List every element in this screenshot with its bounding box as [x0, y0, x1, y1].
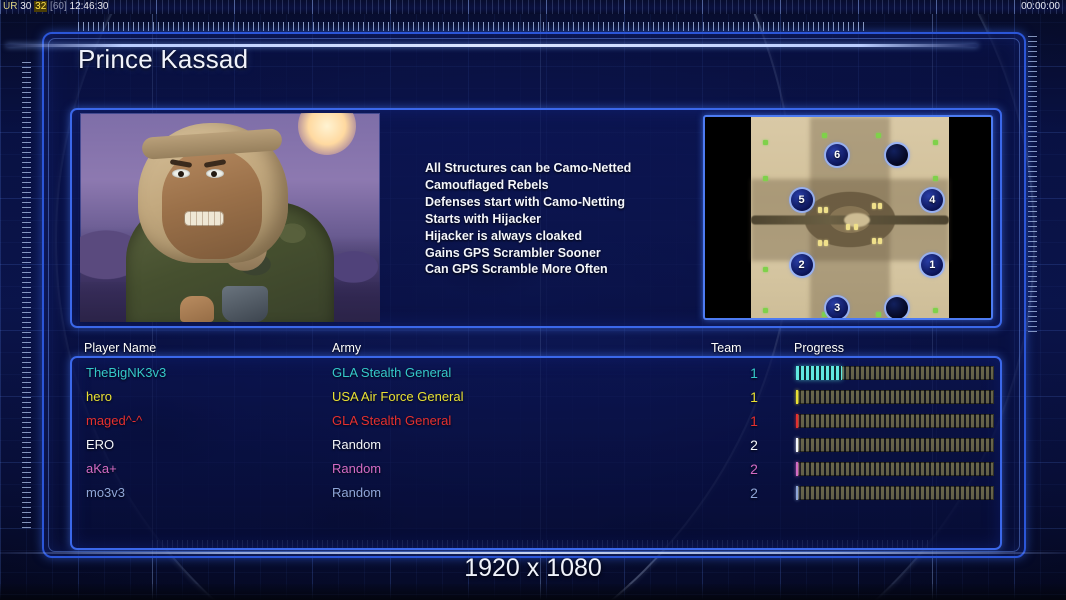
start-position-2: 2 — [791, 254, 813, 276]
supply-dock — [822, 133, 827, 138]
fps-highlight: 32 — [34, 1, 47, 12]
start-position-1: 1 — [921, 254, 943, 276]
progress-bar — [796, 366, 994, 380]
progress-bar-fill — [796, 366, 842, 380]
player-team-cell: 1 — [744, 411, 764, 431]
status-bar-ticks — [0, 0, 1066, 14]
progress-bar-fill — [796, 390, 798, 404]
pupil-left — [178, 171, 184, 177]
system-clock: 12:46:30 — [70, 1, 109, 12]
fps-bracket: [60] — [50, 1, 67, 12]
ability-item: Can GPS Scramble More Often — [425, 261, 705, 278]
player-team-cell: 2 — [744, 459, 764, 479]
table-header-row: Player Name Army Team Progress — [84, 341, 1004, 357]
page-title: Prince Kassad — [78, 44, 248, 75]
column-header-army: Army — [332, 341, 361, 355]
minimap-terrain: 6 5 4 2 1 3 — [751, 117, 949, 320]
progress-bar — [796, 486, 994, 500]
player-team-cell: 1 — [744, 387, 764, 407]
player-army-cell: GLA Stealth General — [332, 411, 451, 431]
resolution-strip: 1920 x 1080 — [0, 548, 1066, 584]
ability-item: Camouflaged Rebels — [425, 177, 705, 194]
table-row[interactable]: mo3v3Random2 — [84, 483, 1004, 507]
player-name-cell: TheBigNK3v3 — [86, 363, 166, 383]
start-position-6: 6 — [826, 144, 848, 166]
player-name-cell: mo3v3 — [86, 483, 125, 503]
fps-counter: UR 30 32 [60] 12:46:30 — [3, 0, 108, 14]
pupil-right — [211, 171, 217, 177]
oil-derrick — [872, 203, 876, 209]
ability-item: Hijacker is always cloaked — [425, 228, 705, 245]
progress-bar — [796, 438, 994, 452]
fps-current: 30 — [20, 1, 31, 12]
start-position-4: 4 — [921, 189, 943, 211]
ability-item: Gains GPS Scrambler Sooner — [425, 245, 705, 262]
player-team-cell: 1 — [744, 363, 764, 383]
progress-bar — [796, 414, 994, 428]
player-army-cell: Random — [332, 435, 381, 455]
progress-bar-fill — [796, 462, 798, 476]
supply-dock — [763, 140, 768, 145]
general-portrait — [80, 113, 380, 322]
start-position-blank — [886, 144, 908, 166]
player-name-cell: hero — [86, 387, 112, 407]
supply-dock — [933, 176, 938, 181]
oil-derrick — [854, 224, 858, 230]
player-team-cell: 2 — [744, 435, 764, 455]
oil-derrick — [846, 224, 850, 230]
column-header-team: Team — [711, 341, 742, 355]
ruler-top — [78, 22, 868, 31]
minimap: 6 5 4 2 1 3 — [703, 115, 993, 320]
teapot — [222, 286, 268, 322]
fps-label: UR — [3, 1, 17, 12]
progress-bar-fill — [796, 438, 798, 452]
supply-dock — [763, 176, 768, 181]
hand — [180, 296, 214, 322]
player-army-cell: Random — [332, 483, 381, 503]
ruler-right — [1028, 36, 1037, 336]
supply-dock — [876, 312, 881, 317]
progress-bar — [796, 462, 994, 476]
column-header-player-name: Player Name — [84, 341, 156, 355]
oil-derrick — [818, 207, 822, 213]
player-army-cell: Random — [332, 459, 381, 479]
player-name-cell: maged^-^ — [86, 411, 142, 431]
bottom-fade — [0, 584, 1066, 600]
player-list: TheBigNK3v3GLA Stealth General1heroUSA A… — [84, 363, 1004, 507]
supply-dock — [763, 267, 768, 272]
table-row[interactable]: aKa+Random2 — [84, 459, 1004, 483]
ruler-left — [22, 62, 31, 532]
status-bar: UR 30 32 [60] 12:46:30 00:00:00 — [0, 0, 1066, 14]
table-row[interactable]: maged^-^GLA Stealth General1 — [84, 411, 1004, 435]
player-name-cell: ERO — [86, 435, 114, 455]
loading-screen: UR 30 32 [60] 12:46:30 00:00:00 Prince K… — [0, 0, 1066, 600]
player-team-cell: 2 — [744, 483, 764, 503]
supply-dock — [933, 308, 938, 313]
table-row[interactable]: TheBigNK3v3GLA Stealth General1 — [84, 363, 1004, 387]
oil-derrick — [872, 238, 876, 244]
oil-derrick — [878, 238, 882, 244]
progress-bar — [796, 390, 994, 404]
start-position-blank — [886, 297, 908, 319]
ability-item: Defenses start with Camo-Netting — [425, 194, 705, 211]
progress-bar-fill — [796, 486, 798, 500]
ability-item: All Structures can be Camo-Netted — [425, 160, 705, 177]
player-army-cell: USA Air Force General — [332, 387, 464, 407]
supply-dock — [933, 140, 938, 145]
start-position-5: 5 — [791, 189, 813, 211]
oil-derrick — [818, 240, 822, 246]
ability-item: Starts with Hijacker — [425, 211, 705, 228]
teeth — [184, 211, 224, 226]
progress-bar-fill — [796, 414, 798, 428]
oil-derrick — [824, 240, 828, 246]
oil-derrick — [824, 207, 828, 213]
sun-icon — [298, 113, 356, 155]
ability-list: All Structures can be Camo-Netted Camouf… — [425, 160, 705, 278]
game-timer: 00:00:00 — [1021, 0, 1060, 14]
column-header-progress: Progress — [794, 341, 844, 355]
table-row[interactable]: ERORandom2 — [84, 435, 1004, 459]
table-row[interactable]: heroUSA Air Force General1 — [84, 387, 1004, 411]
resolution-label: 1920 x 1080 — [0, 554, 1066, 583]
title-underline — [6, 44, 978, 47]
player-army-cell: GLA Stealth General — [332, 363, 451, 383]
title-bar: Prince Kassad — [56, 42, 1012, 86]
player-name-cell: aKa+ — [86, 459, 117, 479]
supply-dock — [763, 308, 768, 313]
supply-dock — [876, 133, 881, 138]
oil-derrick — [878, 203, 882, 209]
